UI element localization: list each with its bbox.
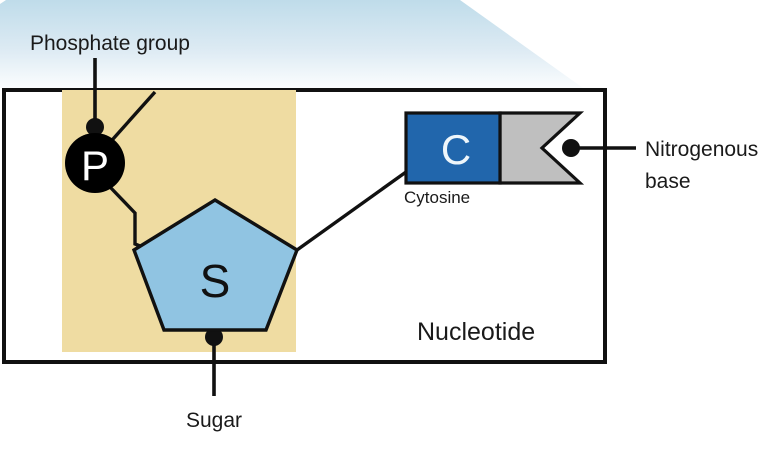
bond-sugar-to-base xyxy=(297,172,406,250)
nucleotide-label: Nucleotide xyxy=(417,318,535,346)
cytosine-label: Cytosine xyxy=(404,188,470,207)
nitrogenous-base-label-line2: base xyxy=(645,170,691,193)
phosphate-group-label: Phosphate group xyxy=(30,32,190,55)
phosphate-symbol: P xyxy=(81,142,109,189)
diagram-canvas: S P C Phosphate group Nitrogenous base S… xyxy=(0,0,775,454)
nitrogenous-base-leader-dot xyxy=(562,139,580,157)
nucleotide-diagram: S P C Phosphate group Nitrogenous base S… xyxy=(0,0,775,454)
sugar-label: Sugar xyxy=(186,409,242,432)
sugar-symbol: S xyxy=(200,255,231,307)
nitrogenous-base-label-line1: Nitrogenous xyxy=(645,138,758,161)
base-symbol: C xyxy=(441,126,471,173)
